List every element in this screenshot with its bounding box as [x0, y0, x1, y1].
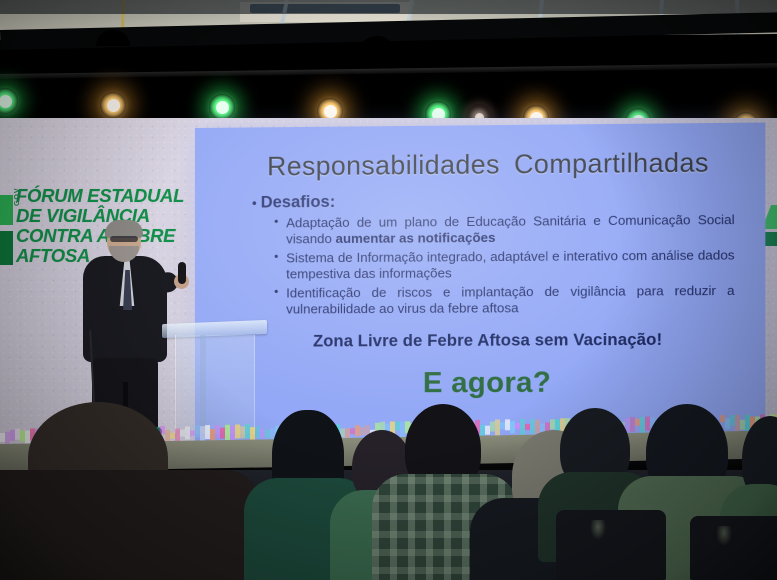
podium-body [175, 335, 255, 434]
projected-slide: ResponsabilidadesCompartilhadas •Desafio… [195, 123, 765, 448]
speaker-glasses [110, 236, 138, 242]
par-light-2-icon [100, 92, 126, 118]
audience-body [0, 470, 260, 580]
microphone-icon [178, 262, 186, 284]
chair-back [556, 510, 666, 580]
conference-photo-scene: GOV FÓRUM ESTADUAL DE VIGILÂNCIA CONTRA … [0, 0, 777, 580]
podium-stem [200, 335, 206, 434]
projector-glow [195, 123, 765, 448]
acrylic-podium [162, 322, 267, 434]
par-light-3-icon [209, 94, 235, 120]
banner-line-1: FÓRUM ESTADUAL [16, 186, 206, 206]
chair-logo-icon [590, 520, 606, 540]
chair-logo-icon [716, 526, 732, 546]
banner-logo-mark [0, 195, 13, 265]
chair-back [690, 516, 777, 580]
ceiling-shadow [0, 0, 777, 14]
